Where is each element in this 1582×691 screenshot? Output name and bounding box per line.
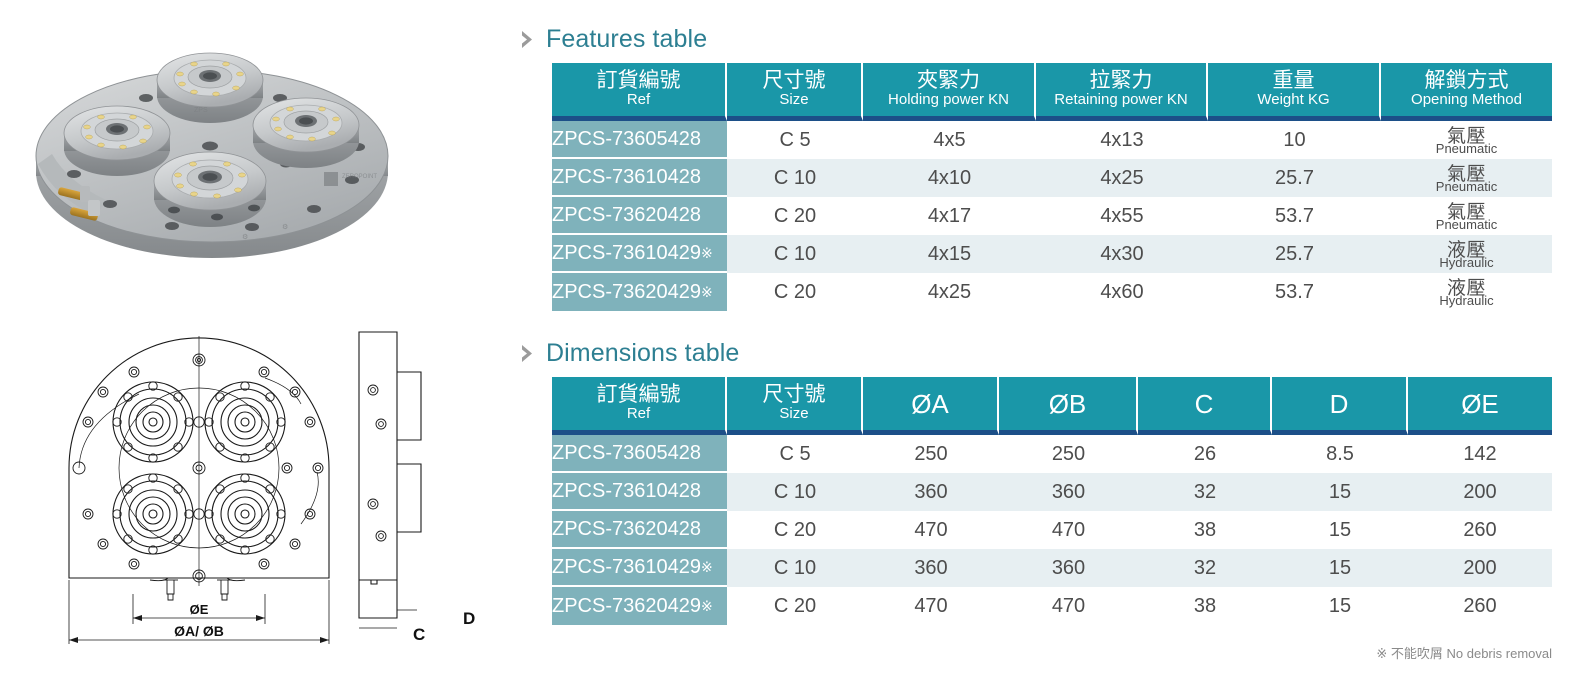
col-head-ref-en: Ref [552, 92, 725, 109]
table-row: ZPCS-73620429※ C 20 4x25 4x60 53.7 液壓Hyd… [552, 273, 1552, 311]
col-head-weight-cn: 重量 [1208, 70, 1379, 93]
cell-ob: 470 [999, 511, 1138, 549]
col-head-opening-method-cn: 解鎖方式 [1381, 70, 1552, 93]
table-row: ZPCS-73605428 C 5 4x5 4x13 10 氣壓Pneumati… [552, 121, 1552, 159]
cell-oa: 360 [863, 473, 999, 511]
cell-opening-method: 液壓Hydraulic [1381, 235, 1552, 273]
dimensions-table: 訂貨編號 Ref 尺寸號 Size ØA ØB [552, 377, 1552, 625]
cell-oa: 250 [863, 435, 999, 473]
col-head-d: D [1272, 377, 1408, 435]
col-head-opening-method: 解鎖方式 Opening Method [1381, 63, 1552, 121]
cell-ob: 360 [999, 549, 1138, 587]
table-row: ZPCS-73610429※ C 10 4x15 4x30 25.7 液壓Hyd… [552, 235, 1552, 273]
dimensions-section-header: Dimensions table [518, 336, 1582, 370]
ref-mark: ※ [701, 245, 713, 261]
col-head-weight-en: Weight KG [1208, 92, 1379, 109]
table-row: ZPCS-73605428 C 5 250 250 26 8.5 142 [552, 435, 1552, 473]
cell-d: 15 [1272, 511, 1408, 549]
cell-opening-method: 液壓Hydraulic [1381, 273, 1552, 311]
cell-weight: 53.7 [1208, 273, 1381, 311]
dimensions-header-row: 訂貨編號 Ref 尺寸號 Size ØA ØB [552, 377, 1552, 435]
opening-method-en: Pneumatic [1381, 218, 1552, 231]
col-head-size-en: Size [727, 92, 861, 109]
cell-retaining-power: 4x30 [1036, 235, 1208, 273]
cell-ref: ZPCS-73620429※ [552, 587, 727, 625]
cell-size: C 10 [727, 235, 863, 273]
col-head-oa: ØA [863, 377, 999, 435]
cell-ref: ZPCS-73610428 [552, 473, 727, 511]
cell-size: C 10 [727, 159, 863, 197]
cell-oa: 470 [863, 587, 999, 625]
cell-oe: 260 [1408, 511, 1552, 549]
cell-holding-power: 4x10 [863, 159, 1036, 197]
cell-oe: 200 [1408, 473, 1552, 511]
col-head-oa-label: ØA [863, 391, 997, 417]
cell-size: C 10 [727, 549, 863, 587]
features-header-row: 訂貨編號 Ref 尺寸號 Size 夾緊力 Holding power KN [552, 63, 1552, 121]
cell-ref: ZPCS-73605428 [552, 435, 727, 473]
cell-size: C 5 [727, 121, 863, 159]
col-head-opening-method-en: Opening Method [1381, 92, 1552, 109]
features-section-header: Features table [518, 22, 1582, 56]
footnote-star: ※ [1376, 646, 1387, 661]
table-row: ZPCS-73610428 C 10 4x10 4x25 25.7 氣壓Pneu… [552, 159, 1552, 197]
svg-text:ZPS: ZPS [194, 107, 208, 114]
col-head-holding-power: 夾緊力 Holding power KN [863, 63, 1036, 121]
cell-size: C 20 [727, 511, 863, 549]
datasheet-page: ZPS ⚙ ⚙ ZEROPOINT [0, 0, 1582, 691]
ref-text: ZPCS-73610429 [552, 556, 701, 578]
col-head-ref-cn: 訂貨編號 [552, 384, 725, 407]
cell-opening-method: 氣壓Pneumatic [1381, 159, 1552, 197]
svg-text:⚙: ⚙ [242, 233, 248, 241]
col-head-size: 尺寸號 Size [727, 377, 863, 435]
features-title: Features table [546, 27, 707, 52]
col-head-ref: 訂貨編號 Ref [552, 63, 727, 121]
chevron-right-icon [520, 30, 537, 49]
cell-size: C 20 [727, 197, 863, 235]
technical-drawings: ØE ØA/ ØB [55, 318, 485, 648]
tables-column: Features table 訂貨編號 Ref 尺寸號 Si [518, 0, 1582, 691]
ref-text: ZPCS-73610429 [552, 242, 701, 264]
opening-method-en: Hydraulic [1381, 256, 1552, 269]
ref-text: ZPCS-73605428 [552, 442, 701, 464]
cell-ref: ZPCS-73610428 [552, 159, 727, 197]
cell-ref: ZPCS-73620428 [552, 197, 727, 235]
cell-oa: 360 [863, 549, 999, 587]
table-row: ZPCS-73620429※ C 20 470 470 38 15 260 [552, 587, 1552, 625]
cell-ref: ZPCS-73605428 [552, 121, 727, 159]
svg-text:ØE: ØE [190, 602, 209, 617]
ref-mark: ※ [701, 598, 713, 614]
col-head-retaining-power-cn: 拉緊力 [1036, 70, 1206, 93]
footnote: ※ 不能吹屑 No debris removal [1376, 643, 1552, 662]
cell-c: 26 [1138, 435, 1272, 473]
cell-c: 32 [1138, 549, 1272, 587]
cell-d: 15 [1272, 473, 1408, 511]
col-head-ref-cn: 訂貨編號 [552, 70, 725, 93]
footnote-text: 不能吹屑 No debris removal [1387, 646, 1552, 661]
cell-weight: 10 [1208, 121, 1381, 159]
cell-size: C 5 [727, 435, 863, 473]
cell-weight: 25.7 [1208, 235, 1381, 273]
col-head-size-en: Size [727, 406, 861, 423]
cell-size: C 20 [727, 587, 863, 625]
cell-d: 15 [1272, 549, 1408, 587]
col-head-holding-power-cn: 夾緊力 [863, 70, 1034, 93]
features-table: 訂貨編號 Ref 尺寸號 Size 夾緊力 Holding power KN [552, 63, 1552, 311]
cell-ob: 360 [999, 473, 1138, 511]
col-head-ob: ØB [999, 377, 1138, 435]
figures-column: ZPS ⚙ ⚙ ZEROPOINT [0, 0, 510, 691]
table-row: ZPCS-73610429※ C 10 360 360 32 15 200 [552, 549, 1552, 587]
cell-size: C 10 [727, 473, 863, 511]
col-head-ob-label: ØB [999, 391, 1136, 417]
col-head-c-label: C [1138, 391, 1270, 417]
features-table-section: Features table 訂貨編號 Ref 尺寸號 Si [518, 22, 1582, 311]
ref-mark: ※ [701, 559, 713, 575]
col-head-ref-en: Ref [552, 406, 725, 423]
col-head-oe-label: ØE [1408, 391, 1552, 417]
cell-ref: ZPCS-73620429※ [552, 273, 727, 311]
cell-retaining-power: 4x60 [1036, 273, 1208, 311]
svg-text:ZEROPOINT: ZEROPOINT [342, 174, 377, 180]
cell-c: 38 [1138, 587, 1272, 625]
ref-text: ZPCS-73620428 [552, 204, 701, 226]
cell-retaining-power: 4x25 [1036, 159, 1208, 197]
cell-oa: 470 [863, 511, 999, 549]
ref-mark: ※ [701, 284, 713, 300]
col-head-d-label: D [1272, 391, 1406, 417]
cell-weight: 25.7 [1208, 159, 1381, 197]
cell-opening-method: 氣壓Pneumatic [1381, 197, 1552, 235]
table-row: ZPCS-73620428 C 20 4x17 4x55 53.7 氣壓Pneu… [552, 197, 1552, 235]
col-head-size: 尺寸號 Size [727, 63, 863, 121]
cell-d: 8.5 [1272, 435, 1408, 473]
cell-holding-power: 4x17 [863, 197, 1036, 235]
table-row: ZPCS-73610428 C 10 360 360 32 15 200 [552, 473, 1552, 511]
cell-d: 15 [1272, 587, 1408, 625]
col-head-c: C [1138, 377, 1272, 435]
cell-holding-power: 4x15 [863, 235, 1036, 273]
cell-retaining-power: 4x55 [1036, 197, 1208, 235]
ref-text: ZPCS-73605428 [552, 128, 701, 150]
cell-retaining-power: 4x13 [1036, 121, 1208, 159]
cell-ob: 250 [999, 435, 1138, 473]
dimensions-title: Dimensions table [546, 341, 739, 366]
opening-method-en: Pneumatic [1381, 142, 1552, 155]
cell-holding-power: 4x25 [863, 273, 1036, 311]
ref-text: ZPCS-73610428 [552, 480, 701, 502]
col-head-size-cn: 尺寸號 [727, 384, 861, 407]
svg-text:D: D [463, 609, 475, 628]
col-head-ref: 訂貨編號 Ref [552, 377, 727, 435]
ref-text: ZPCS-73620429 [552, 595, 701, 617]
opening-method-en: Pneumatic [1381, 180, 1552, 193]
ref-text: ZPCS-73620428 [552, 518, 701, 540]
col-head-retaining-power-en: Retaining power KN [1036, 92, 1206, 109]
col-head-holding-power-en: Holding power KN [863, 92, 1034, 109]
col-head-size-cn: 尺寸號 [727, 70, 861, 93]
table-row: ZPCS-73620428 C 20 470 470 38 15 260 [552, 511, 1552, 549]
cell-weight: 53.7 [1208, 197, 1381, 235]
col-head-oe: ØE [1408, 377, 1552, 435]
cell-size: C 20 [727, 273, 863, 311]
cell-ref: ZPCS-73620428 [552, 511, 727, 549]
cell-ob: 470 [999, 587, 1138, 625]
cell-oe: 142 [1408, 435, 1552, 473]
col-head-weight: 重量 Weight KG [1208, 63, 1381, 121]
cell-ref: ZPCS-73610429※ [552, 235, 727, 273]
product-photo-chuck-base-plate: ZPS ⚙ ⚙ ZEROPOINT [14, 14, 414, 299]
chevron-right-icon [520, 344, 537, 363]
cell-oe: 260 [1408, 587, 1552, 625]
col-head-retaining-power: 拉緊力 Retaining power KN [1036, 63, 1208, 121]
cell-oe: 200 [1408, 549, 1552, 587]
cell-holding-power: 4x5 [863, 121, 1036, 159]
opening-method-en: Hydraulic [1381, 294, 1552, 307]
ref-text: ZPCS-73620429 [552, 281, 701, 303]
svg-text:ØA/ ØB: ØA/ ØB [174, 623, 224, 639]
cell-c: 32 [1138, 473, 1272, 511]
ref-text: ZPCS-73610428 [552, 166, 701, 188]
svg-text:⚙: ⚙ [282, 223, 288, 231]
cell-ref: ZPCS-73610429※ [552, 549, 727, 587]
dimensions-table-section: Dimensions table 訂貨編號 Ref 尺寸號 [518, 336, 1582, 625]
cell-c: 38 [1138, 511, 1272, 549]
svg-text:C: C [413, 625, 425, 644]
cell-opening-method: 氣壓Pneumatic [1381, 121, 1552, 159]
